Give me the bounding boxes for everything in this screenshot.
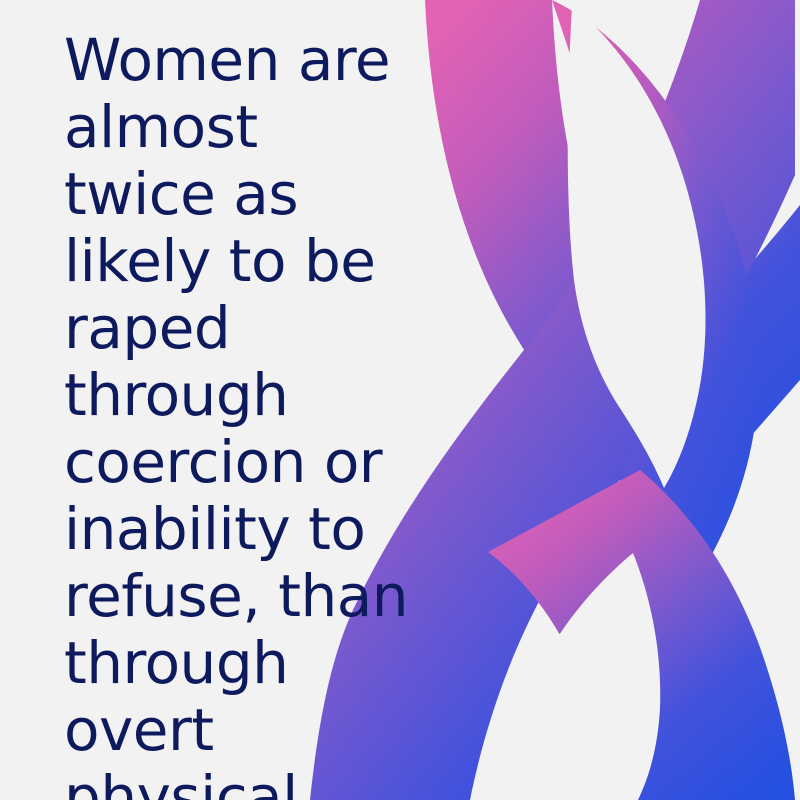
statistic-card: Women are almost twice as likely to be r… [0, 0, 800, 800]
statement-text: Women are almost twice as likely to be r… [64, 27, 424, 800]
